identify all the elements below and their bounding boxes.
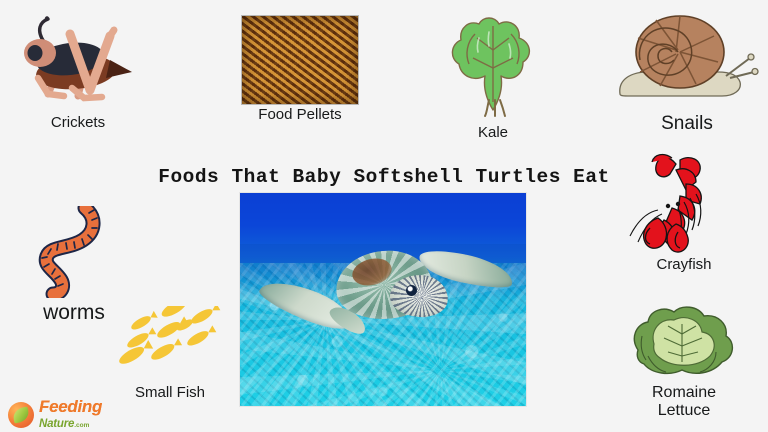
- food-label-crayfish: Crayfish: [656, 257, 711, 274]
- small-fish-illustration: [115, 306, 225, 385]
- kale-illustration: [443, 14, 543, 123]
- logo-secondary-text: Nature: [39, 418, 74, 430]
- logo-suffix-text: .com: [74, 422, 89, 429]
- food-item-romaine-lettuce: Romaine Lettuce: [618, 304, 750, 420]
- food-item-small-fish: Small Fish: [112, 306, 228, 402]
- turtle-eye: [406, 285, 417, 296]
- snail-illustration: [614, 14, 760, 111]
- food-label-snails: Snails: [661, 113, 713, 134]
- site-logo[interactable]: Feeding Nature.com: [8, 398, 102, 431]
- food-item-kale: Kale: [440, 14, 546, 142]
- logo-secondary-line: Nature.com: [39, 415, 102, 431]
- page-title: Foods That Baby Softshell Turtles Eat: [0, 166, 768, 188]
- logo-primary-text: Feeding: [39, 398, 102, 415]
- food-pellets-photo: [242, 16, 358, 104]
- cricket-illustration: [14, 16, 142, 113]
- lettuce-illustration: [628, 304, 740, 383]
- food-item-crickets: Crickets: [8, 16, 148, 132]
- food-label-romaine-lettuce: Romaine Lettuce: [652, 384, 716, 420]
- food-label-worms: worms: [43, 301, 105, 325]
- infographic-canvas: Foods That Baby Softshell Turtles Eat: [0, 0, 768, 432]
- food-item-snails: Snails: [612, 14, 762, 134]
- logo-wordmark: Feeding Nature.com: [39, 398, 102, 431]
- food-label-crickets: Crickets: [51, 115, 105, 132]
- food-label-food-pellets: Food Pellets: [258, 107, 341, 124]
- worm-illustration: [23, 206, 125, 303]
- sea-turtle-photo: [240, 193, 526, 406]
- food-item-food-pellets: Food Pellets: [240, 16, 360, 124]
- food-label-kale: Kale: [478, 125, 508, 142]
- leaf-circle-icon: [8, 402, 34, 428]
- food-label-small-fish: Small Fish: [135, 385, 205, 402]
